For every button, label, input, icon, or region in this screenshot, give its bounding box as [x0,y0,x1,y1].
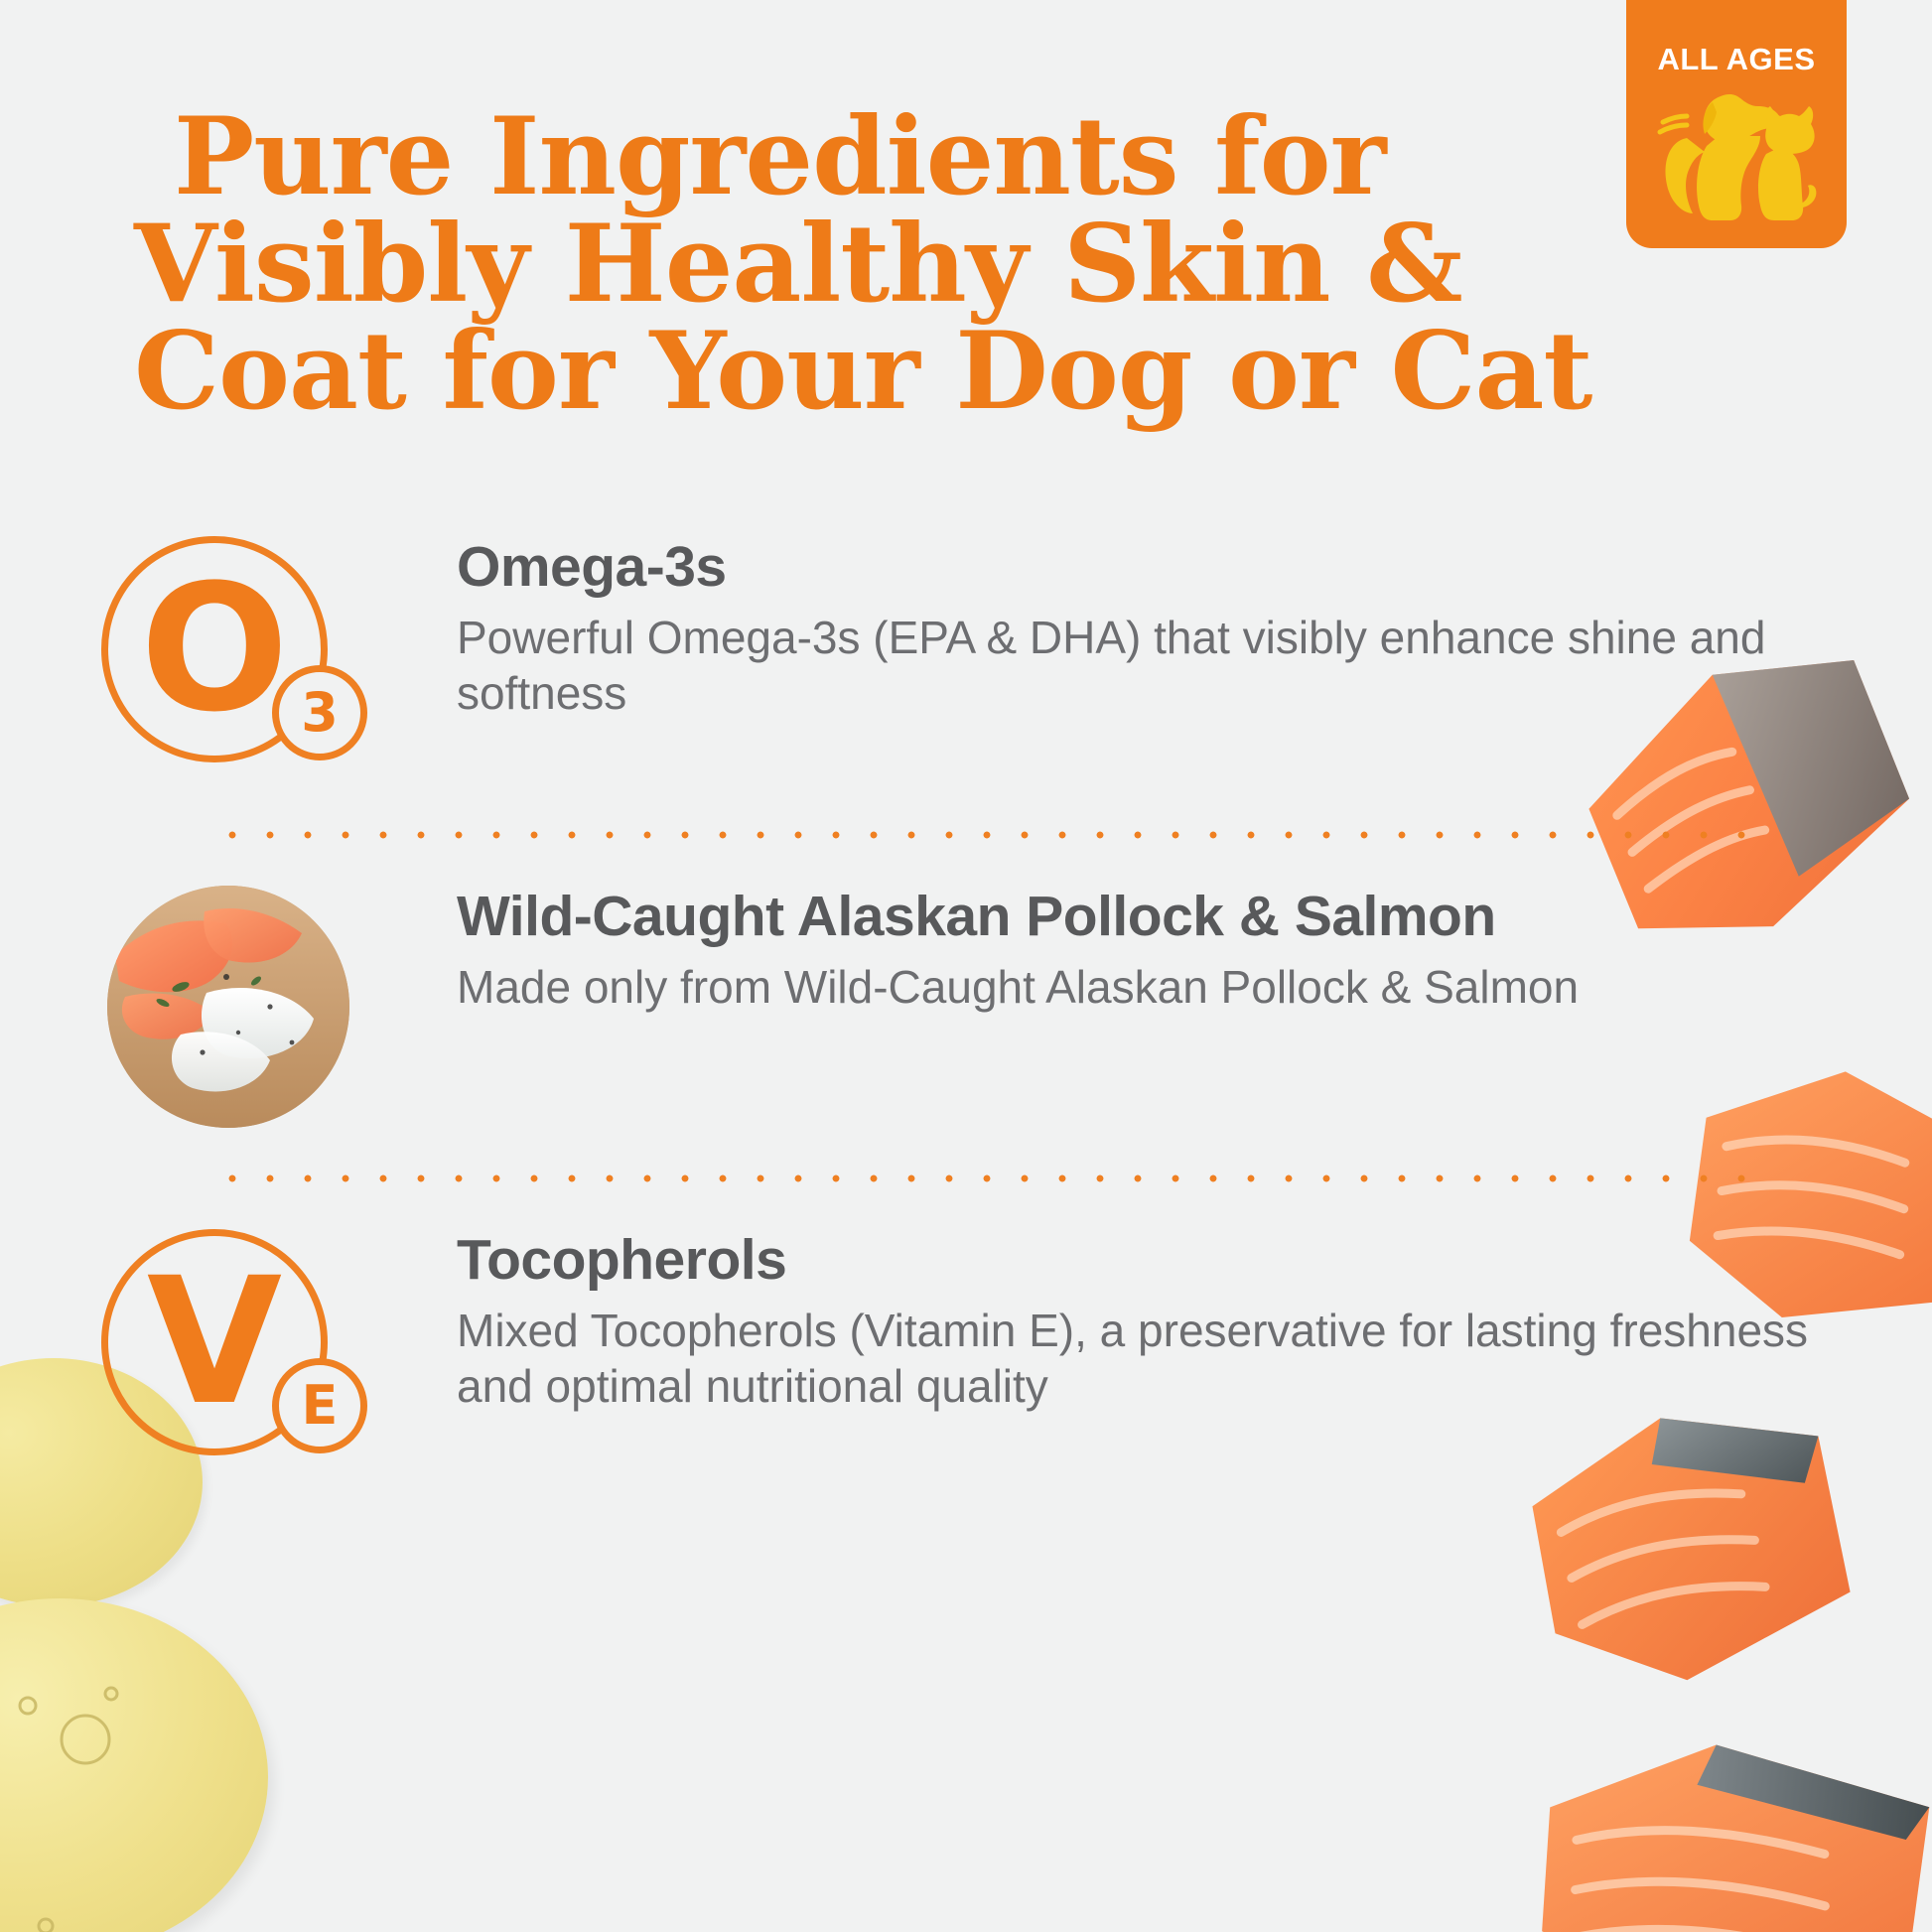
feature-heading: Wild-Caught Alaskan Pollock & Salmon [457,886,1813,949]
feature-row-tocopherols: V E Tocopherols Mixed Tocopherols (Vitam… [0,1229,1932,1477]
feature-icon-cell: O 3 [0,536,457,784]
feature-row-omega-3s: O 3 Omega-3s Powerful Omega-3s (EPA & DH… [0,536,1932,784]
feature-row-pollock-and-salmon: Wild-Caught Alaskan Pollock & Salmon Mad… [0,886,1932,1128]
feature-body: Powerful Omega-3s (EPA & DHA) that visib… [457,610,1813,721]
feature-text-cell: Wild-Caught Alaskan Pollock & Salmon Mad… [457,886,1932,1015]
vitamin-e-icon: V E [79,1229,377,1477]
salmon-piece-bottom-right [1525,1718,1932,1932]
title-line-2: Visibly Healthy Skin & [134,210,1554,318]
all-ages-badge: ALL AGES [1626,0,1847,248]
title-line-1: Pure Ingredients for [134,103,1554,210]
omega-3-icon: O 3 [79,536,377,784]
infographic-canvas: ALL AGES [0,0,1932,1932]
feature-list: O 3 Omega-3s Powerful Omega-3s (EPA & DH… [0,536,1932,1477]
feature-divider-2 [213,1173,1763,1183]
feature-text-cell: Omega-3s Powerful Omega-3s (EPA & DHA) t… [457,536,1932,721]
feature-icon-cell [0,886,457,1128]
feature-heading: Tocopherols [457,1229,1813,1293]
all-ages-label: ALL AGES [1657,44,1815,74]
dog-and-cat-silhouette-icon [1647,80,1826,234]
title-line-3: Coat for Your Dog or Cat [134,318,1554,425]
vitamin-e-icon-subscript: E [272,1358,367,1453]
feature-body: Made only from Wild-Caught Alaskan Pollo… [457,959,1813,1015]
pollock-and-salmon-photo-icon [107,886,349,1128]
feature-heading: Omega-3s [457,536,1813,600]
omega-3-icon-subscript: 3 [272,665,367,760]
feature-icon-cell: V E [0,1229,457,1477]
oil-droplet-large [0,1598,268,1932]
page-title: Pure Ingredients for Visibly Healthy Ski… [134,103,1554,425]
feature-divider-1 [213,830,1763,840]
feature-text-cell: Tocopherols Mixed Tocopherols (Vitamin E… [457,1229,1932,1414]
feature-body: Mixed Tocopherols (Vitamin E), a preserv… [457,1303,1813,1414]
